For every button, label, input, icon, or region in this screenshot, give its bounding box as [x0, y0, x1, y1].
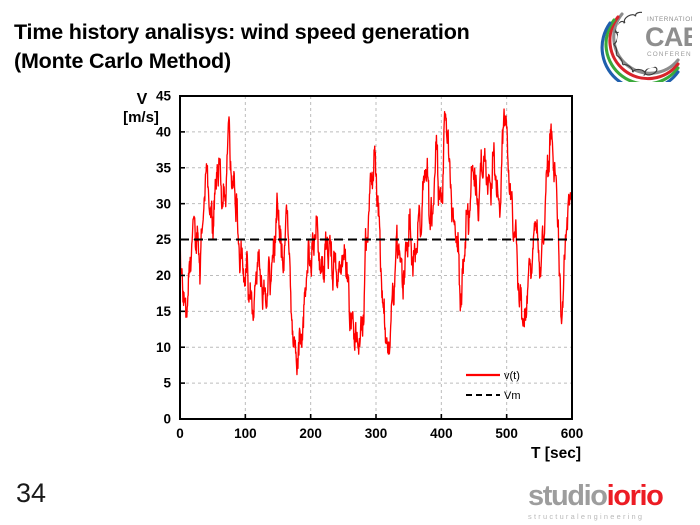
svg-text:0: 0 — [163, 412, 171, 427]
svg-text:300: 300 — [365, 426, 388, 441]
svg-text:20: 20 — [156, 268, 171, 283]
svg-text:25: 25 — [156, 232, 172, 247]
svg-text:30: 30 — [156, 196, 171, 211]
svg-text:500: 500 — [495, 426, 518, 441]
studio-iorio-logo: studioiorio structuralengineering — [528, 482, 690, 518]
svg-text:45: 45 — [156, 89, 172, 104]
studio-iorio-tagline: structuralengineering — [528, 512, 690, 521]
slide-number: 34 — [16, 478, 46, 509]
svg-text:10: 10 — [156, 340, 171, 355]
svg-text:100: 100 — [234, 426, 257, 441]
x-axis-label: T [sec] — [531, 445, 581, 462]
svg-text:400: 400 — [430, 426, 453, 441]
svg-text:5: 5 — [163, 376, 171, 391]
legend-label-vm: Vm — [504, 390, 521, 402]
svg-text:600: 600 — [561, 426, 584, 441]
chart-svg: 0510152025303540450100200300400500600 V[… — [0, 0, 700, 470]
chart-ticks: 0510152025303540450100200300400500600 — [156, 89, 583, 441]
legend-label-vt: v(t) — [504, 370, 520, 382]
chart-legend: v(t)Vm — [466, 370, 521, 402]
svg-text:35: 35 — [156, 160, 172, 175]
wind-speed-time-history-chart: 0510152025303540450100200300400500600 V[… — [0, 0, 700, 470]
y-axis-label-line-2: [m/s] — [123, 109, 159, 126]
svg-text:40: 40 — [156, 124, 171, 139]
chart-axis-labels: V[m/s]T [sec] — [123, 91, 581, 462]
svg-text:15: 15 — [156, 304, 172, 319]
studio-iorio-word-iorio: iorio — [607, 480, 663, 512]
studio-iorio-wordmark: studioiorio — [528, 482, 690, 511]
studio-iorio-word-studio: studio — [528, 480, 607, 512]
svg-text:0: 0 — [176, 426, 184, 441]
y-axis-label-line-1: V — [137, 91, 148, 108]
svg-text:200: 200 — [299, 426, 322, 441]
